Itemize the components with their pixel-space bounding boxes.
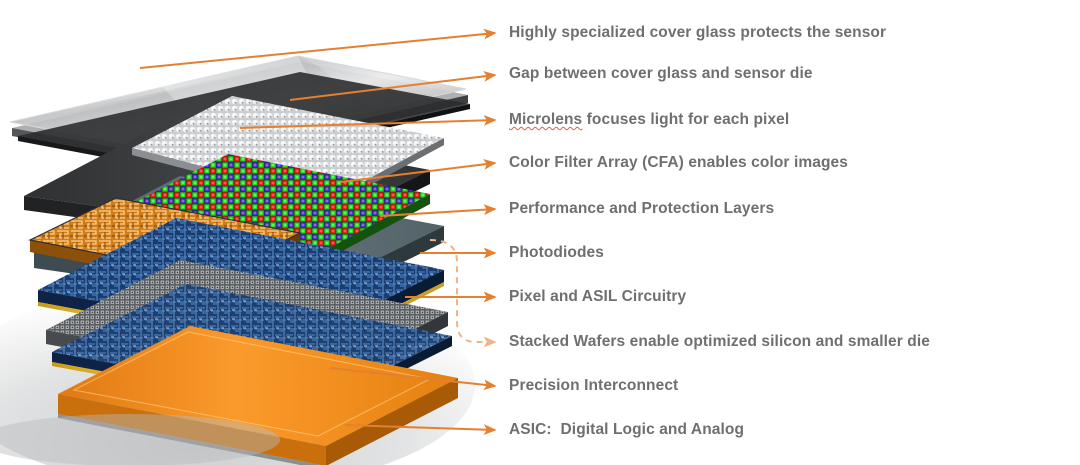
callout-stacked-wafers: Stacked Wafers enable optimized silicon … (509, 334, 930, 350)
callout-text: Gap between cover glass and sensor die (509, 65, 813, 82)
callout-color-filter-array: Color Filter Array (CFA) enables color i… (509, 155, 848, 171)
callout-pixel-asil: Pixel and ASIL Circuitry (509, 289, 686, 305)
callout-text: Pixel and ASIL Circuitry (509, 288, 686, 305)
callout-text: Highly specialized cover glass protects … (509, 24, 886, 41)
callout-performance-layers: Performance and Protection Layers (509, 201, 774, 217)
callout-precision-interconnect: Precision Interconnect (509, 378, 678, 394)
callout-text: ASIC: Digital Logic and Analog (509, 421, 744, 438)
figure-canvas: Highly specialized cover glass protects … (0, 0, 1080, 465)
callout-asic: ASIC: Digital Logic and Analog (509, 422, 744, 438)
callout-microlens: Microlens focuses light for each pixel (509, 112, 789, 128)
callout-text: Color Filter Array (CFA) enables color i… (509, 154, 848, 171)
callout-cover-glass: Highly specialized cover glass protects … (509, 25, 886, 41)
sensor-stack-illustration (0, 0, 500, 465)
callout-text: Performance and Protection Layers (509, 200, 774, 217)
callout-photodiodes: Photodiodes (509, 245, 604, 261)
callout-gap: Gap between cover glass and sensor die (509, 66, 813, 82)
misspelled-word: Microlens (509, 111, 582, 128)
callout-text: Stacked Wafers enable optimized silicon … (509, 333, 930, 350)
callout-text: focuses light for each pixel (582, 111, 789, 128)
callout-text: Precision Interconnect (509, 377, 678, 394)
callout-text: Photodiodes (509, 244, 604, 261)
